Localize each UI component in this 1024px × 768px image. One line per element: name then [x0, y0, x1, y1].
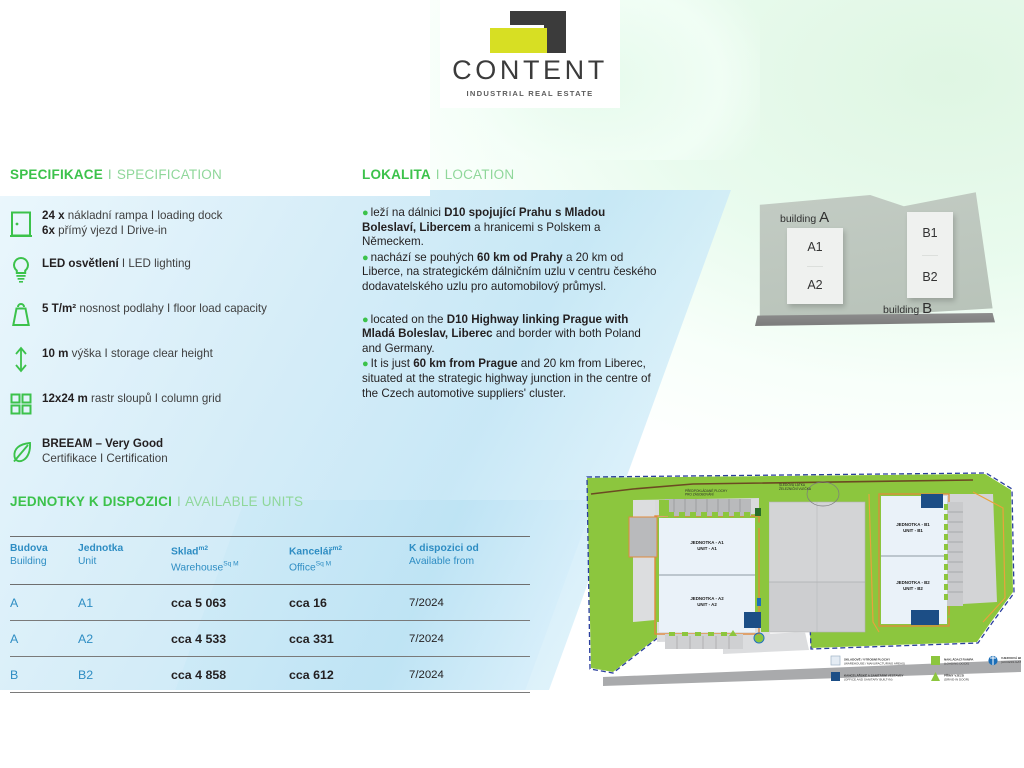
column-header-building: Budova Building [10, 537, 78, 585]
spec-item-column-grid: 12x24 m rastr sloupů I column grid [10, 391, 340, 419]
spec-line-rest: výška I storage clear height [68, 347, 212, 360]
spec-line-bold: 5 T/m² [42, 302, 76, 315]
site-label-unit-b1-en: UNIT - B1 [903, 528, 923, 533]
cell-available-from: 7/2024 [409, 657, 530, 693]
legend-text-office-en: (OFFICE AND SANITARY BUILT-IN) [844, 678, 892, 682]
column-header-unit: Jednotka Unit [78, 537, 171, 585]
cell-warehouse: cca 4 858 [171, 657, 289, 693]
site-label-unit-b1-cz: JEDNOTKA - B1 [896, 522, 930, 527]
logo-tagline: INDUSTRIAL REAL ESTATE [467, 89, 594, 98]
building-a-office-block [744, 612, 762, 628]
spec-line2-bold: 6x [42, 224, 55, 237]
diagram-label-a-prefix: building [780, 213, 816, 225]
available-units-heading-cz: JEDNOTKY K DISPOZICI [10, 494, 172, 509]
location-bullet: ●leží na dálnici D10 spojující Prahu s M… [362, 206, 662, 250]
company-logo: CONTENT INDUSTRIAL REAL ESTATE [440, 0, 620, 108]
spec-item-text: 12x24 m rastr sloupů I column grid [42, 391, 221, 407]
cell-office: cca 331 [289, 621, 409, 657]
column-header-warehouse: Skladm2 WarehouseSq M [171, 537, 289, 585]
col-cz: Kancelář [289, 546, 333, 557]
specification-heading: SPECIFIKACE I SPECIFICATION [10, 167, 340, 182]
spec-line-bold: LED osvětlení [42, 257, 119, 270]
logo-mark-yellow [490, 28, 547, 53]
diagram-building-b[interactable]: B1 B2 [907, 212, 953, 298]
table-row[interactable]: B B2 cca 4 858 cca 612 7/2024 [10, 657, 530, 693]
vertical-arrow-height-icon [10, 344, 42, 374]
col-cz-unit: m2 [333, 545, 343, 552]
location-section: LOKALITA I LOCATION ●leží na dálnici D10… [362, 167, 662, 419]
legend-text-access-gate-en: (ACCESS GATE) [1001, 660, 1021, 664]
site-plan-drawing: JEDNOTKA - A1 UNIT - A1 JEDNOTKA - A2 UN… [573, 472, 1021, 690]
diagram-unit-b2[interactable]: B2 [922, 255, 937, 299]
spec-item-text: LED osvětlení I LED lighting [42, 256, 191, 272]
location-heading-cz: LOKALITA [362, 167, 431, 182]
spec-line-rest: nákladní rampa I loading dock [65, 209, 223, 222]
site-label-unit-a2-cz: JEDNOTKA - A2 [690, 596, 724, 601]
legend-text-warehouse-en: (WAREHOUSE / MANUFACTURING AREAS) [844, 662, 905, 666]
cell-unit: A2 [78, 621, 171, 657]
spec-item-led-lighting: LED osvětlení I LED lighting [10, 256, 340, 284]
cell-building: A [10, 621, 78, 657]
diagram-unit-b1[interactable]: B1 [922, 212, 937, 255]
bullet-part-bold: 60 km od Prahy [477, 251, 563, 264]
diagram-unit-a1[interactable]: A1 [807, 228, 822, 266]
cell-office: cca 16 [289, 585, 409, 621]
legend-swatch-warehouse [831, 656, 840, 665]
building-b-office-block-north [921, 494, 943, 508]
spec-item-floor-load: 5 T/m² nosnost podlahy I floor load capa… [10, 301, 340, 329]
col-cz: Budova [10, 543, 48, 554]
location-bullet: ●It is just 60 km from Prague and 20 km … [362, 357, 662, 401]
available-units-table: Budova Building Jednotka Unit Skladm2 Wa… [10, 536, 530, 693]
col-en: Office [289, 562, 316, 573]
spec-line-bold: 10 m [42, 347, 68, 360]
cell-building: A [10, 585, 78, 621]
map-pin-icon: ● [362, 207, 369, 219]
spec-line-rest: nosnost podlahy I floor load capacity [76, 302, 267, 315]
col-cz: Sklad [171, 546, 198, 557]
legend-text-drive-in-en: (DRIVE-IN DOOR) [944, 678, 969, 682]
lightbulb-icon [10, 254, 42, 284]
col-en: Available from [409, 556, 474, 567]
specification-heading-en: SPECIFICATION [117, 167, 222, 182]
location-bullet: ●nachází se pouhých 60 km od Prahy a 20 … [362, 251, 662, 295]
diagram-label-b-prefix: building [883, 304, 919, 316]
spec-item-breeam: BREEAM – Very Good Certifikace I Certifi… [10, 436, 340, 467]
site-label-unit-b2-cz: JEDNOTKA - B2 [896, 580, 930, 585]
diagram-unit-a2[interactable]: A2 [807, 266, 822, 305]
svg-text:ŽELEZNIČNÍ VLEČKA: ŽELEZNIČNÍ VLEČKA [779, 486, 812, 491]
logo-wordmark: CONTENT [452, 57, 608, 84]
svg-text:PRO ZÁSOBOVÁNÍ: PRO ZÁSOBOVÁNÍ [685, 493, 714, 497]
map-pin-icon: ● [362, 358, 369, 370]
loading-dock-door-icon [10, 209, 42, 239]
col-cz: K dispozici od [409, 543, 479, 554]
col-en-unit: Sq M [223, 561, 238, 568]
bullet-part: It is just [371, 357, 414, 370]
location-heading-separator: I [435, 167, 441, 182]
logo-mark [478, 11, 582, 53]
cell-building: B [10, 657, 78, 693]
col-cz: Jednotka [78, 543, 123, 554]
cell-available-from: 7/2024 [409, 585, 530, 621]
bullet-part: leží na dálnici [371, 206, 444, 219]
spec-line-rest: I LED lighting [119, 257, 191, 270]
cell-warehouse: cca 4 533 [171, 621, 289, 657]
table-header-row: Budova Building Jednotka Unit Skladm2 Wa… [10, 537, 530, 585]
building-overview-diagram: A1 A2 B1 B2 building A building B [755, 188, 995, 328]
diagram-label-building-b: building B [883, 300, 932, 317]
col-en-unit: Sq M [316, 561, 331, 568]
site-label-unit-a1-cz: JEDNOTKA - A1 [690, 540, 724, 545]
spec-item-text: 24 x nákladní rampa I loading dock 6x př… [42, 208, 222, 238]
spec-item-text: 10 m výška I storage clear height [42, 346, 213, 362]
spec-line-bold: BREEAM – Very Good [42, 437, 163, 450]
column-header-available-from: K dispozici od Available from [409, 537, 530, 585]
logo-mark-dark-right [544, 11, 566, 53]
spec-line-bold: 12x24 m [42, 392, 88, 405]
cell-warehouse: cca 5 063 [171, 585, 289, 621]
spec-line2-rest: Certifikace I Certification [42, 452, 168, 465]
cell-unit: B2 [78, 657, 171, 693]
available-units-section: JEDNOTKY K DISPOZICI I AVAILABLE UNITS B… [10, 494, 530, 693]
spec-item-loading-dock: 24 x nákladní rampa I loading dock 6x př… [10, 208, 340, 239]
spec-item-text: 5 T/m² nosnost podlahy I floor load capa… [42, 301, 267, 317]
specification-heading-cz: SPECIFIKACE [10, 167, 103, 182]
leaf-certification-icon [10, 437, 42, 467]
bullet-part-bold: 60 km from Prague [413, 357, 517, 370]
site-label-unit-a1-en: UNIT - A1 [697, 546, 717, 551]
site-label-unit-b2-en: UNIT - B2 [903, 586, 923, 591]
col-en: Unit [78, 556, 96, 567]
spec-line-bold: 24 x [42, 209, 65, 222]
col-en: Warehouse [171, 562, 223, 573]
col-en: Building [10, 556, 47, 567]
building-b-office-block-south [911, 610, 939, 625]
legend-swatch-loading-dock [931, 656, 940, 665]
location-bullet: ●located on the D10 Highway linking Prag… [362, 313, 662, 357]
building-a-mezzanine [629, 517, 657, 557]
diagram-label-b-letter: B [922, 300, 932, 317]
location-block-en: ●located on the D10 Highway linking Prag… [362, 313, 662, 402]
column-grid-icon [10, 389, 42, 419]
table-row[interactable]: A A2 cca 4 533 cca 331 7/2024 [10, 621, 530, 657]
table-row[interactable]: A A1 cca 5 063 cca 16 7/2024 [10, 585, 530, 621]
building-b-footprint [881, 496, 947, 624]
available-units-heading-en: AVAILABLE UNITS [185, 494, 303, 509]
col-cz-unit: m2 [198, 545, 208, 552]
available-units-heading: JEDNOTKY K DISPOZICI I AVAILABLE UNITS [10, 494, 530, 509]
location-block-cz: ●leží na dálnici D10 spojující Prahu s M… [362, 206, 662, 295]
legend-text-loading-dock-en: (LOADING DOCK) [944, 662, 969, 666]
diagram-label-a-letter: A [819, 209, 829, 226]
diagram-building-a[interactable]: A1 A2 [787, 228, 843, 304]
site-label-unit-a2-en: UNIT - A2 [697, 602, 717, 607]
specification-heading-separator: I [107, 167, 113, 182]
cell-available-from: 7/2024 [409, 621, 530, 657]
page-root: CONTENT INDUSTRIAL REAL ESTATE SPECIFIKA… [0, 0, 1024, 768]
location-heading-en: LOCATION [445, 167, 515, 182]
cell-office: cca 612 [289, 657, 409, 693]
cell-unit: A1 [78, 585, 171, 621]
diagram-label-building-a: building A [780, 209, 829, 226]
spec-item-text: BREEAM – Very Good Certifikace I Certifi… [42, 436, 168, 466]
map-pin-icon: ● [362, 314, 369, 326]
bullet-part: located on the [371, 313, 447, 326]
available-units-heading-separator: I [176, 494, 182, 509]
bullet-part: nachází se pouhých [371, 251, 477, 264]
legend-swatch-office [831, 672, 840, 681]
site-plan[interactable]: JEDNOTKA - A1 UNIT - A1 JEDNOTKA - A2 UN… [573, 472, 1021, 690]
building-a-loading-docks-north [665, 499, 751, 517]
map-pin-icon: ● [362, 252, 369, 264]
location-heading: LOKALITA I LOCATION [362, 167, 662, 182]
spec-line-rest: rastr sloupů I column grid [88, 392, 221, 405]
specification-section: SPECIFIKACE I SPECIFICATION 24 x nákladn… [10, 167, 340, 484]
floor-load-weight-icon [10, 299, 42, 329]
column-header-office: Kancelářm2 OfficeSq M [289, 537, 409, 585]
spec-item-clear-height: 10 m výška I storage clear height [10, 346, 340, 374]
spec-line2-rest: přímý vjezd I Drive-in [55, 224, 167, 237]
